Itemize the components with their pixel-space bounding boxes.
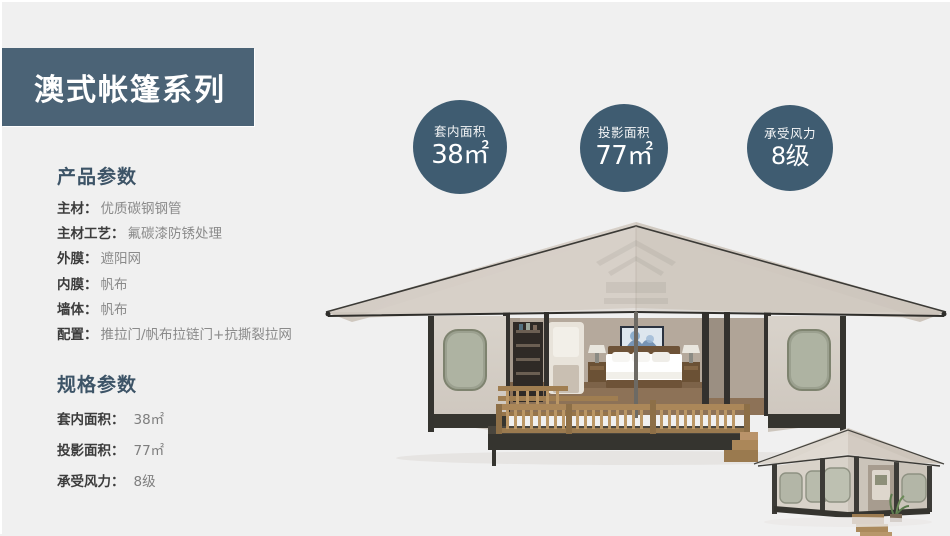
- step: [860, 532, 892, 536]
- spec-label: 承受风力：: [57, 470, 125, 490]
- param-value: 遮阳网: [101, 251, 142, 267]
- param-row: 墙体： 帆布: [57, 302, 332, 318]
- param-row: 内膜： 帆布: [57, 277, 332, 293]
- param-value: 帆布: [101, 302, 128, 318]
- stat-label: 套内面积: [434, 126, 486, 139]
- spec-row: 投影面积： 77㎡: [57, 439, 332, 459]
- stat-circle-indoor-area: 套内面积 38㎡: [413, 100, 507, 194]
- stat-value: 77㎡: [595, 143, 653, 169]
- window: [824, 468, 850, 502]
- bed: [606, 346, 682, 388]
- mirror: [553, 327, 579, 357]
- spec-row: 承受风力： 8级: [57, 470, 332, 490]
- nightstand-left: [588, 345, 606, 382]
- param-value: 优质碳钢钢管: [101, 201, 182, 217]
- stat-label: 承受风力: [764, 128, 816, 141]
- wall-base-left: [430, 414, 506, 428]
- param-label: 外膜：: [57, 251, 98, 267]
- spec-params-heading: 规格参数: [57, 370, 332, 397]
- deck-base: [488, 432, 750, 450]
- param-label: 配置：: [57, 327, 98, 343]
- param-label: 主材工艺：: [57, 226, 125, 242]
- spec-params-section: 规格参数 套内面积： 38㎡ 投影面积： 77㎡ 承受风力： 8级: [2, 370, 332, 490]
- param-value: 推拉门/帆布拉链门+抗撕裂拉网: [101, 327, 292, 343]
- small-tent-image: [744, 420, 950, 536]
- stat-circle-wind-resistance: 承受风力 8级: [747, 105, 833, 191]
- spec-value: 8级: [134, 470, 156, 490]
- spec-row: 套内面积： 38㎡: [57, 408, 332, 428]
- ground-shadow: [764, 517, 932, 527]
- nightstand-right: [682, 345, 700, 382]
- small-tent-walls: [772, 456, 932, 518]
- page-root: 澳式帐篷系列 产品参数 主材： 优质碳钢钢管 主材工艺： 氟碳漆防锈处理 外膜：…: [0, 0, 950, 534]
- center-pole: [634, 312, 638, 418]
- stat-label: 投影面积: [598, 127, 650, 140]
- param-row: 主材： 优质碳钢钢管: [57, 201, 332, 217]
- spec-label: 套内面积：: [57, 408, 125, 428]
- param-value: 帆布: [101, 277, 128, 293]
- stat-value: 8级: [771, 144, 809, 168]
- window: [902, 474, 926, 502]
- param-row: 配置： 推拉门/帆布拉链门+抗撕裂拉网: [57, 327, 332, 343]
- product-params-list: 主材： 优质碳钢钢管 主材工艺： 氟碳漆防锈处理 外膜： 遮阳网 内膜： 帆布 …: [57, 201, 332, 343]
- table-lamp: [682, 345, 700, 353]
- stat-value: 38㎡: [431, 142, 489, 168]
- product-params-heading: 产品参数: [57, 162, 332, 189]
- page-title: 澳式帐篷系列: [34, 65, 226, 109]
- param-label: 主材：: [57, 201, 98, 217]
- table-lamp: [588, 345, 606, 353]
- window: [780, 473, 802, 503]
- spec-value: 38㎡: [134, 408, 165, 428]
- spec-value: 77㎡: [134, 439, 165, 459]
- spec-label: 投影面积：: [57, 439, 125, 459]
- param-label: 墙体：: [57, 302, 98, 318]
- param-row: 外膜： 遮阳网: [57, 251, 332, 267]
- spec-params-list: 套内面积： 38㎡ 投影面积： 77㎡ 承受风力： 8级: [57, 408, 332, 490]
- tent-roof: [326, 222, 947, 418]
- stat-circle-projected-area: 投影面积 77㎡: [580, 104, 668, 192]
- param-value: 氟碳漆防锈处理: [128, 226, 223, 242]
- title-banner: 澳式帐篷系列: [2, 48, 254, 126]
- param-row: 主材工艺： 氟碳漆防锈处理: [57, 226, 332, 242]
- param-label: 内膜：: [57, 277, 98, 293]
- specification-panel: 产品参数 主材： 优质碳钢钢管 主材工艺： 氟碳漆防锈处理 外膜： 遮阳网 内膜…: [2, 162, 332, 501]
